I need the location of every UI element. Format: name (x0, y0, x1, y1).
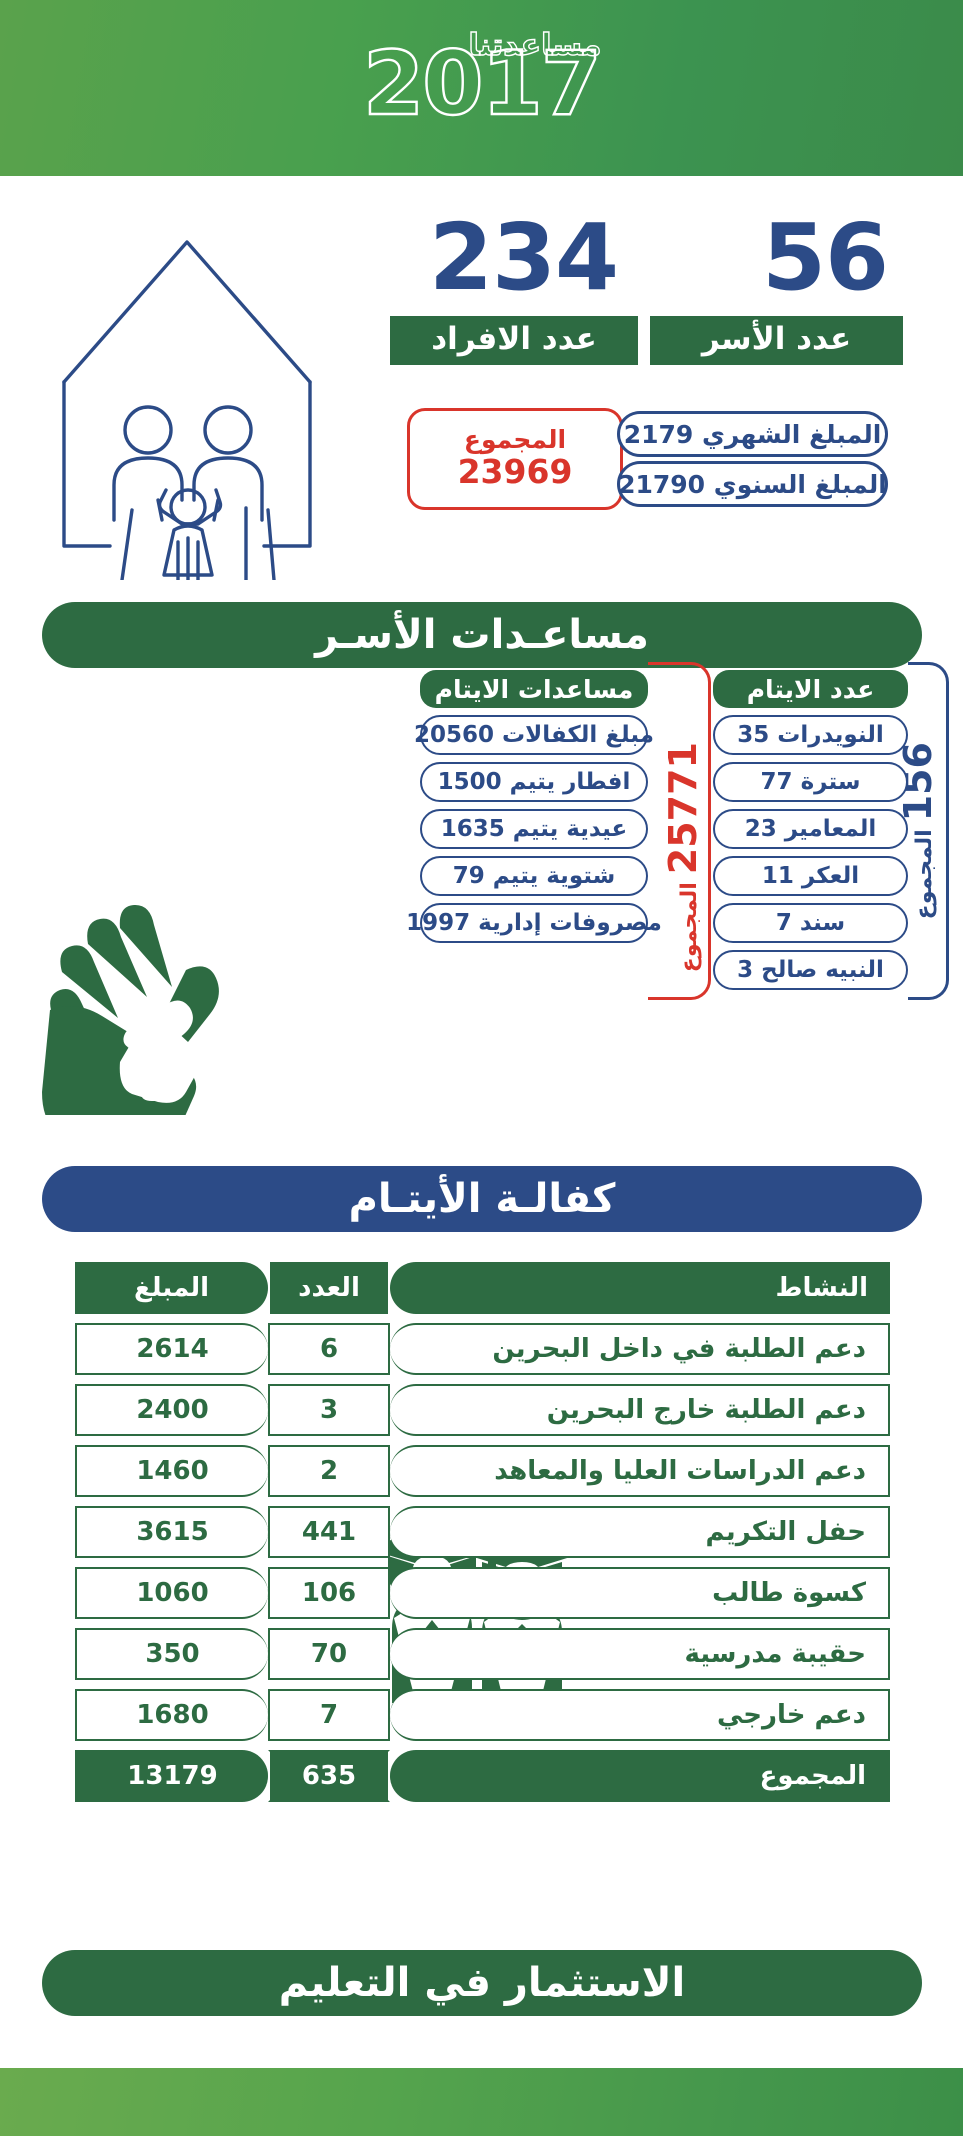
list-item: مصروفات إدارية 1997 (420, 903, 648, 943)
education-banner: الاستثمار في التعليم (42, 1950, 922, 2016)
table-total-row: المجموع 635 13179 (75, 1750, 890, 1802)
orphans-banner: كفالـة الأيتـام (42, 1166, 922, 1232)
orphan-assistance-header: مساعدات الايتام (420, 670, 648, 708)
cell-amount: 1060 (75, 1567, 268, 1619)
cell-activity: حقيبة مدرسية (390, 1628, 890, 1680)
assistance-total-value: 25771 (661, 742, 705, 874)
table-row: دعم الدراسات العليا والمعاهد 2 1460 (75, 1445, 890, 1497)
helping-hands-icon (36, 900, 251, 1115)
families-total-box: المجموع 23969 (407, 408, 623, 510)
logo: مساعدتنا 2017 (332, 18, 632, 158)
total-amount: 13179 (75, 1750, 268, 1802)
list-item: شتوية يتيم 79 (420, 856, 648, 896)
column-header-count: العدد (268, 1262, 390, 1314)
list-item: العكر 11 (713, 856, 908, 896)
list-item: مبلغ الكفالات 20560 (420, 715, 648, 755)
cell-count: 2 (268, 1445, 390, 1497)
orphan-counts-group: عدد الايتام النويدرات 35 سترة 77 المعامي… (713, 670, 908, 990)
table-header-row: النشاط العدد المبلغ (75, 1262, 890, 1314)
table-row: حقيبة مدرسية 70 350 (75, 1628, 890, 1680)
table-row: دعم خارجي 7 1680 (75, 1689, 890, 1741)
column-header-amount: المبلغ (75, 1262, 268, 1314)
table-row: دعم الطلبة في داخل البحرين 6 2614 (75, 1323, 890, 1375)
cell-activity: دعم الطلبة خارج البحرين (390, 1384, 890, 1436)
orphan-counts-header: عدد الايتام (713, 670, 908, 708)
list-item: سترة 77 (713, 762, 908, 802)
family-house-icon (42, 190, 332, 580)
households-label: عدد الأسر (650, 316, 903, 365)
households-value: 56 (762, 212, 888, 304)
cell-count: 3 (268, 1384, 390, 1436)
column-header-activity: النشاط (390, 1262, 890, 1314)
table-row: حفل التكريم 441 3615 (75, 1506, 890, 1558)
table-row: دعم الطلبة خارج البحرين 3 2400 (75, 1384, 890, 1436)
total-count: 635 (268, 1750, 390, 1802)
list-item: المعامير 23 (713, 809, 908, 849)
yearly-amount-pill: المبلغ السنوي 21790 (617, 461, 888, 507)
list-item: النبيه صالح 3 (713, 950, 908, 990)
families-banner: مساعـدات الأسـر (42, 602, 922, 668)
cell-amount: 350 (75, 1628, 268, 1680)
families-total-value: 23969 (458, 453, 573, 491)
assistance-total: 25771 المجموع (661, 742, 705, 942)
cell-amount: 3615 (75, 1506, 268, 1558)
education-section: النشاط العدد المبلغ دعم الطلبة في داخل ا… (0, 1262, 963, 1942)
orphans-section: 25771 المجموع 156 المجموع مساعدات الايتا… (0, 670, 963, 1150)
counts-total-label: المجموع (912, 829, 937, 919)
footer-band (0, 2068, 963, 2136)
cell-amount: 1460 (75, 1445, 268, 1497)
monthly-amount-pill: المبلغ الشهري 2179 (617, 411, 888, 457)
total-label: المجموع (390, 1750, 890, 1802)
cell-count: 6 (268, 1323, 390, 1375)
families-total-label: المجموع (464, 427, 566, 453)
cell-amount: 2614 (75, 1323, 268, 1375)
cell-count: 441 (268, 1506, 390, 1558)
list-item: افطار يتيم 1500 (420, 762, 648, 802)
list-item: النويدرات 35 (713, 715, 908, 755)
cell-amount: 2400 (75, 1384, 268, 1436)
individuals-label: عدد الافراد (390, 316, 638, 365)
cell-activity: حفل التكريم (390, 1506, 890, 1558)
logo-year: 2017 (363, 40, 600, 128)
assistance-total-label: المجموع (677, 882, 702, 972)
cell-count: 106 (268, 1567, 390, 1619)
cell-count: 70 (268, 1628, 390, 1680)
infographic-page: مساعدتنا 2017 (0, 0, 963, 2136)
cell-activity: دعم الطلبة في داخل البحرين (390, 1323, 890, 1375)
page-header: مساعدتنا 2017 (0, 0, 963, 176)
cell-activity: دعم خارجي (390, 1689, 890, 1741)
cell-count: 7 (268, 1689, 390, 1741)
cell-activity: دعم الدراسات العليا والمعاهد (390, 1445, 890, 1497)
orphan-assistance-group: مساعدات الايتام مبلغ الكفالات 20560 افطا… (420, 670, 648, 943)
cell-activity: كسوة طالب (390, 1567, 890, 1619)
list-item: عيدية يتيم 1635 (420, 809, 648, 849)
education-table: النشاط العدد المبلغ دعم الطلبة في داخل ا… (75, 1262, 890, 1811)
individuals-value: 234 (429, 212, 618, 304)
families-section: 234 56 عدد الافراد عدد الأسر المجموع 239… (0, 176, 963, 636)
list-item: سند 7 (713, 903, 908, 943)
table-row: كسوة طالب 106 1060 (75, 1567, 890, 1619)
cell-amount: 1680 (75, 1689, 268, 1741)
